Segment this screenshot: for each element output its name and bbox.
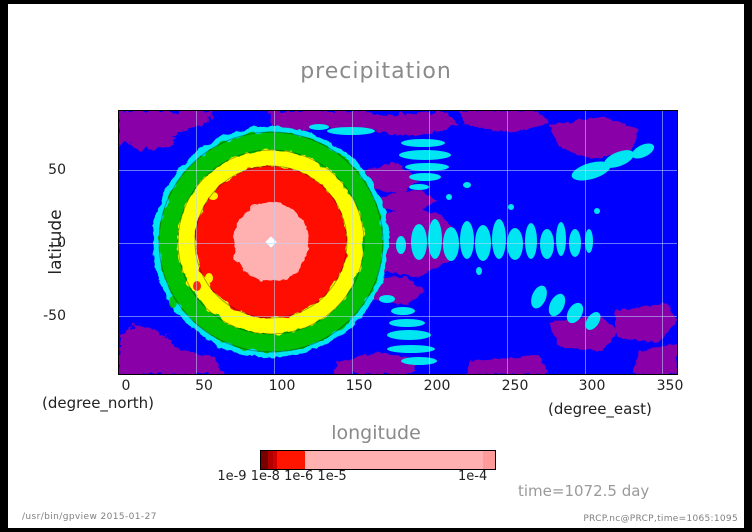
x-tick-0: 0 (122, 378, 131, 394)
colorbar-ticks: 1e-9 1e-8 1e-6 1e-5 1e-4 (260, 469, 496, 485)
x-axis-label-right: (degree_east) (548, 400, 652, 418)
colorbar-title: longitude (8, 422, 744, 444)
x-tick-4: 200 (424, 378, 451, 394)
colorbar-label-left: 1e-9 1e-8 1e-6 1e-5 (217, 469, 346, 484)
contour-map (118, 110, 678, 375)
x-tick-5: 250 (502, 378, 529, 394)
page-title: precipitation (8, 59, 744, 84)
x-tick-3: 150 (346, 378, 373, 394)
colorbar (260, 450, 496, 470)
y-tick-0: 50 (48, 162, 66, 178)
colorbar-gradient (260, 450, 496, 470)
footer-command: /usr/bin/gpview 2015-01-27 (22, 512, 157, 522)
figure-canvas: precipitation (8, 4, 744, 528)
plot-area (118, 110, 678, 375)
x-tick-7: 350 (657, 378, 684, 394)
y-axis-label: latitude (46, 209, 66, 274)
x-tick-2: 100 (269, 378, 296, 394)
y-tick-2: -50 (43, 308, 66, 324)
time-annotation: time=1072.5 day (518, 482, 649, 500)
x-tick-6: 300 (579, 378, 606, 394)
x-axis-label-left: (degree_north) (42, 394, 154, 412)
footer-source: PRCP.nc@PRCP,time=1065:1095 (583, 514, 738, 524)
colorbar-label-right: 1e-4 (458, 469, 487, 484)
screenshot-root: precipitation (0, 0, 752, 532)
x-tick-1: 50 (195, 378, 213, 394)
